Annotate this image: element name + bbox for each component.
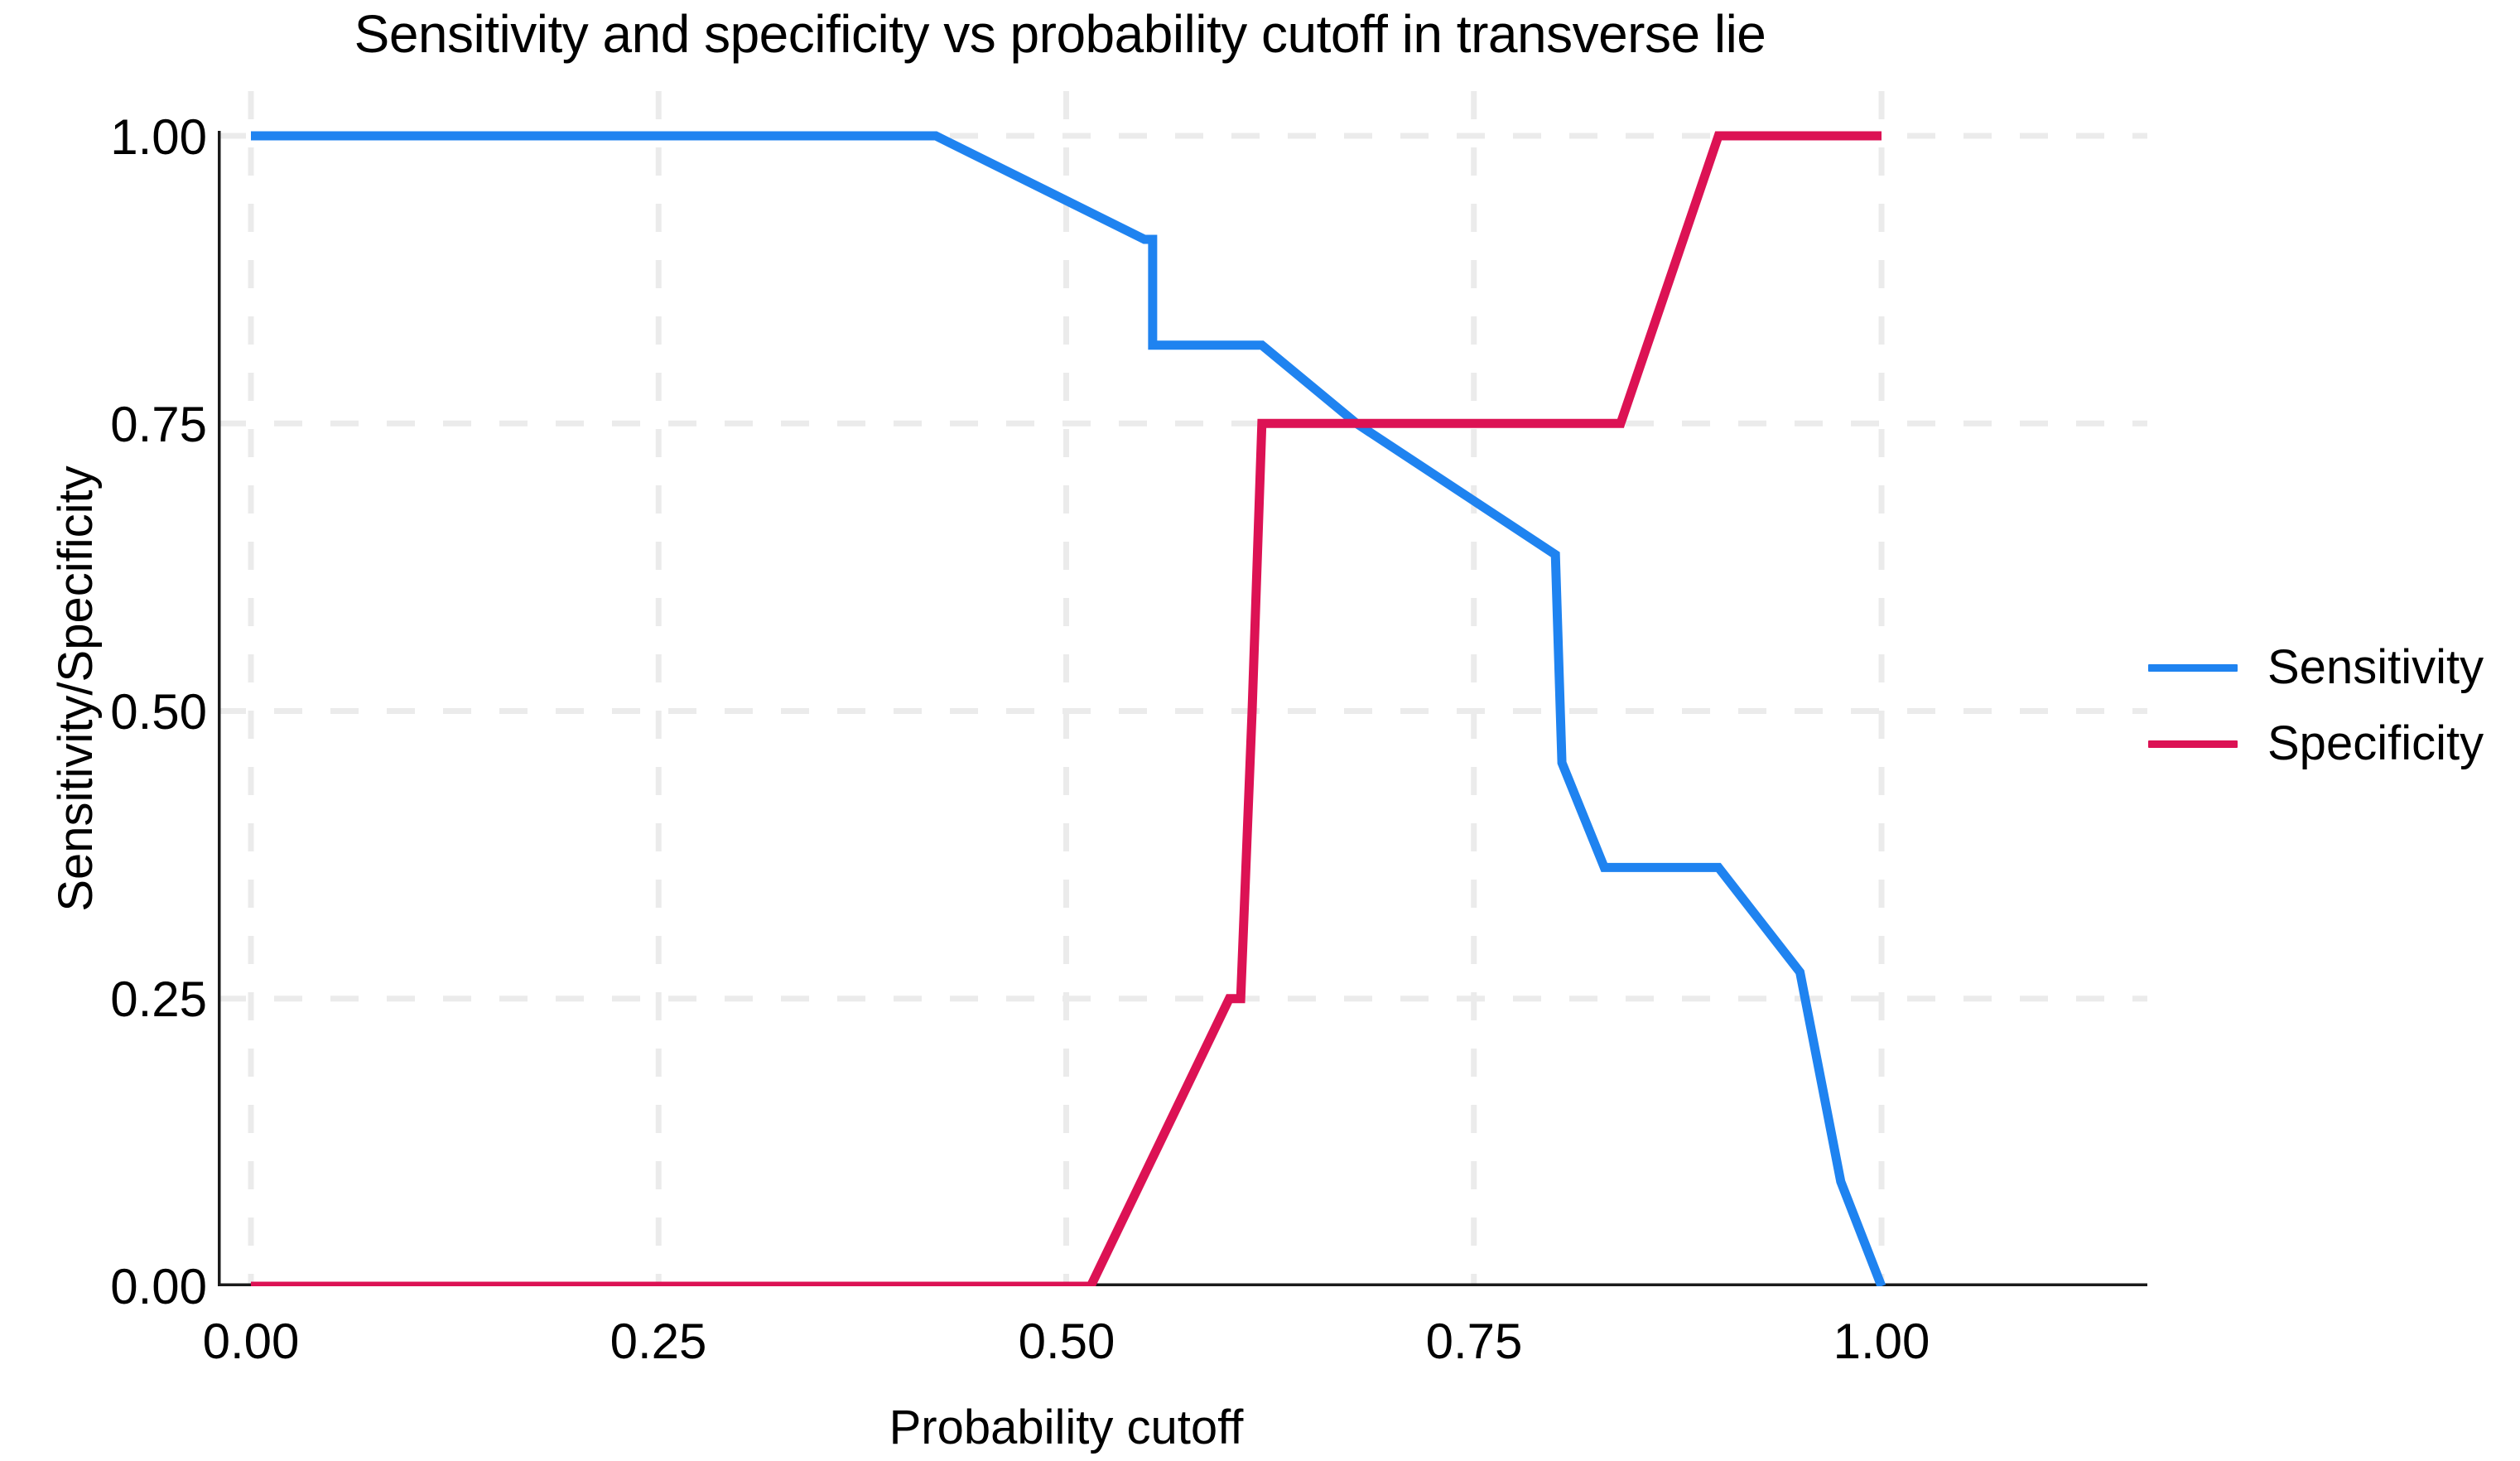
chart-figure: Sensitivity and specificity vs probabili… [0, 0, 2520, 1461]
y-tick-label-5: 0.00 [110, 1262, 207, 1312]
y-tick-label-2: 0.75 [110, 400, 207, 450]
legend-item-sensitivity[interactable]: Sensitivity [2148, 629, 2513, 706]
y-axis-title-wrap: Sensitivity/Specificity [48, 91, 106, 1286]
legend-swatch-specificity [2148, 740, 2238, 748]
x-tick-label-5: 1.00 [1833, 1317, 1930, 1367]
x-tick-label-1: 0.00 [203, 1317, 300, 1367]
x-tick-label-4: 0.75 [1426, 1317, 1523, 1367]
chart-legend: Sensitivity Specificity [2148, 629, 2513, 782]
y-tick-label-1: 1.00 [110, 113, 207, 162]
plot-svg [218, 91, 2147, 1286]
y-tick-label-4: 0.25 [110, 975, 207, 1025]
legend-label-specificity: Specificity [2267, 720, 2484, 768]
chart-title: Sensitivity and specificity vs probabili… [0, 7, 2120, 62]
legend-swatch-sensitivity [2148, 664, 2238, 672]
gridlines [218, 91, 2147, 1286]
x-tick-label-2: 0.25 [610, 1317, 707, 1367]
y-tick-label-3: 0.50 [110, 687, 207, 737]
y-axis-title: Sensitivity/Specificity [48, 91, 104, 1286]
plot-area [218, 91, 2147, 1286]
legend-item-specificity[interactable]: Specificity [2148, 706, 2513, 782]
legend-label-sensitivity: Sensitivity [2267, 644, 2484, 692]
x-axis-title: Probability cutoff [251, 1400, 1882, 1455]
x-tick-label-3: 0.50 [1019, 1317, 1115, 1367]
